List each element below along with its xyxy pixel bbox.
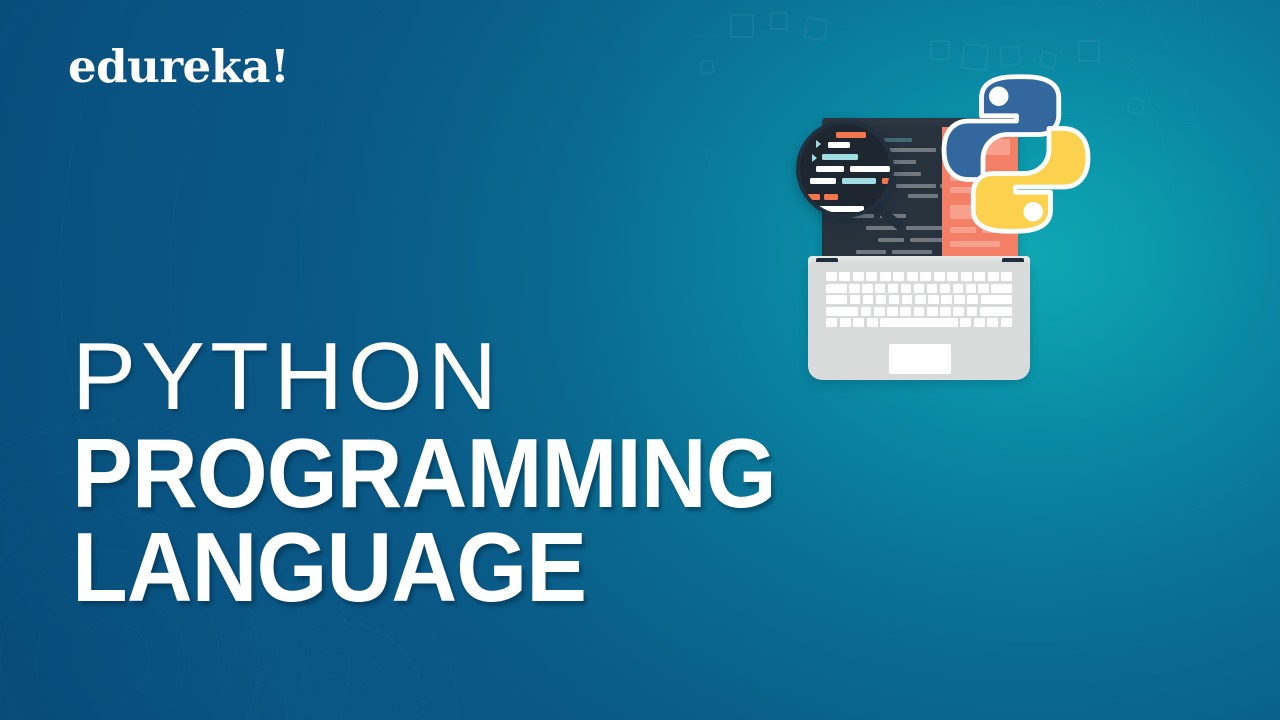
magnifying-glass: [796, 120, 894, 218]
title-line-programming: PROGRAMMING: [72, 424, 776, 524]
code-line: [878, 238, 904, 242]
key: [880, 272, 891, 281]
code-line: [856, 250, 886, 254]
key: [914, 284, 924, 293]
key: [953, 307, 964, 316]
key: [987, 318, 998, 327]
key: [867, 318, 878, 327]
key: [974, 272, 985, 281]
key: [840, 318, 851, 327]
key: [826, 307, 858, 316]
magnifier-lens: [800, 124, 890, 214]
keyboard-row: [826, 272, 1012, 281]
laptop-trackpad: [889, 344, 951, 374]
title-line-language: LANGUAGE: [72, 518, 776, 618]
code-line-magnified: [824, 194, 838, 200]
key: [826, 318, 837, 327]
key: [893, 272, 904, 281]
key: [826, 295, 847, 304]
key: [927, 284, 937, 293]
python-laptop-illustration: [790, 60, 1130, 390]
key: [875, 284, 885, 293]
code-line-magnified: [842, 178, 876, 184]
key-space: [880, 318, 957, 327]
key: [960, 318, 971, 327]
key: [853, 272, 864, 281]
code-line-magnified: [814, 206, 864, 212]
slide-canvas: edureka! PYTHON PROGRAMMING LANGUAGE: [0, 0, 1280, 720]
keyboard-row: [826, 318, 1012, 327]
key: [889, 295, 900, 304]
key: [850, 295, 861, 304]
key: [1001, 272, 1012, 281]
key: [974, 318, 985, 327]
key: [927, 307, 938, 316]
key: [940, 307, 951, 316]
key: [940, 284, 950, 293]
key: [900, 307, 911, 316]
key: [978, 284, 988, 293]
key: [901, 284, 911, 293]
key: [907, 272, 918, 281]
key: [866, 272, 877, 281]
key: [966, 284, 976, 293]
key: [853, 318, 864, 327]
edureka-logo[interactable]: edureka!: [68, 44, 289, 89]
key: [915, 295, 926, 304]
code-line-magnified: [810, 178, 836, 184]
laptop-keyboard: [826, 272, 1012, 334]
keyboard-row: [826, 295, 1012, 304]
keyboard-row: [826, 284, 1012, 293]
key: [947, 272, 958, 281]
key: [920, 272, 931, 281]
key: [839, 272, 850, 281]
python-logo: [926, 64, 1106, 244]
key: [849, 284, 859, 293]
key: [991, 284, 1012, 293]
key: [863, 295, 874, 304]
key: [967, 307, 978, 316]
key: [928, 295, 939, 304]
key: [826, 272, 837, 281]
code-line-magnified: [804, 194, 820, 200]
key: [914, 307, 925, 316]
key: [967, 295, 978, 304]
key: [953, 284, 963, 293]
key: [934, 272, 945, 281]
code-line-magnified: [828, 142, 850, 148]
code-caret: [816, 140, 821, 148]
code-line-magnified: [822, 154, 858, 160]
key: [954, 295, 965, 304]
code-caret: [812, 154, 817, 162]
key: [876, 295, 887, 304]
page-title: PYTHON PROGRAMMING LANGUAGE: [72, 330, 829, 618]
key: [826, 284, 847, 293]
code-line-magnified: [816, 166, 844, 172]
key: [988, 272, 999, 281]
key: [961, 272, 972, 281]
key: [981, 295, 1013, 304]
key: [862, 284, 872, 293]
key: [1001, 318, 1012, 327]
key: [874, 307, 885, 316]
code-line-magnified: [836, 132, 866, 138]
title-line-python: PYTHON: [72, 330, 829, 424]
code-line: [892, 250, 932, 254]
code-line-magnified: [850, 166, 890, 172]
keyboard-row: [826, 307, 1012, 316]
key: [861, 307, 872, 316]
key: [980, 307, 1012, 316]
key: [941, 295, 952, 304]
key: [902, 295, 913, 304]
code-line-magnified: [882, 178, 890, 184]
key: [888, 284, 898, 293]
key: [887, 307, 898, 316]
